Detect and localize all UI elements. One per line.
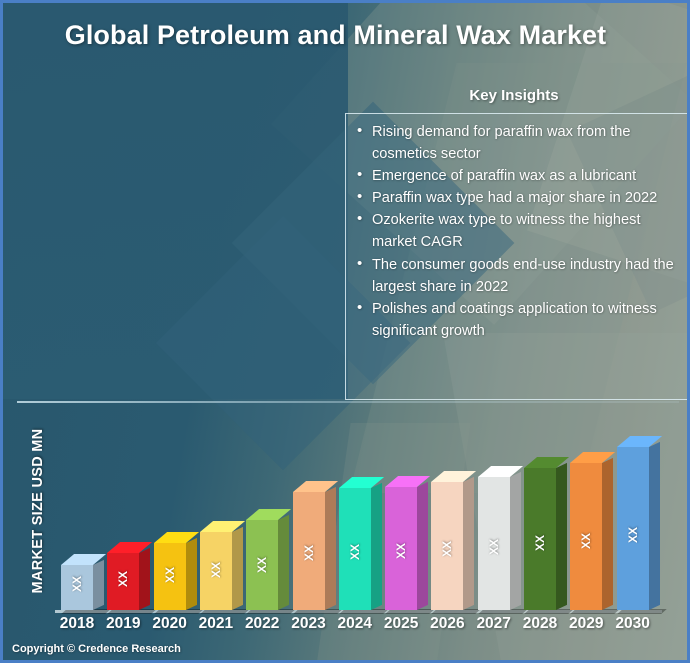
chart-bar-side-face — [463, 477, 474, 610]
key-insights-list: Rising demand for paraffin wax from the … — [354, 121, 681, 342]
chart-x-tick-label: 2019 — [100, 615, 146, 633]
page-title: Global Petroleum and Mineral Wax Market — [63, 19, 608, 52]
chart-bar: XX — [107, 553, 139, 610]
chart-bar-front-face — [293, 492, 325, 610]
key-insight-item: The consumer goods end-use industry had … — [354, 254, 681, 298]
chart-bar: XX — [385, 487, 417, 610]
key-insight-item: Polishes and coatings application to wit… — [354, 298, 681, 342]
key-insight-item: Rising demand for paraffin wax from the … — [354, 121, 681, 165]
chart-x-tick-label: 2030 — [610, 615, 656, 633]
chart-x-tick-label: 2028 — [517, 615, 563, 633]
chart-bar-side-face — [93, 560, 104, 610]
key-insights-box: Rising demand for paraffin wax from the … — [345, 113, 690, 400]
copyright-notice: Copyright © Credence Research — [12, 643, 181, 655]
chart-bar: XX — [478, 477, 510, 610]
chart-bar-front-face — [339, 488, 371, 610]
chart-bar: XX — [154, 543, 186, 610]
chart-x-tick-label: 2020 — [147, 615, 193, 633]
chart-x-tick-label: 2024 — [332, 615, 378, 633]
chart-bar-side-face — [556, 463, 567, 610]
chart-bar-side-face — [417, 482, 428, 610]
chart-bar: XX — [200, 532, 232, 610]
chart-bar-side-face — [371, 483, 382, 610]
chart-x-tick-label: 2018 — [54, 615, 100, 633]
chart-x-axis-labels: 2018201920202021202220232024202520262027… — [55, 615, 680, 639]
chart-x-tick-label: 2022 — [239, 615, 285, 633]
key-insight-item: Emergence of paraffin wax as a lubricant — [354, 165, 681, 187]
chart-bar-front-face — [478, 477, 510, 610]
chart-bar-side-face — [325, 487, 336, 610]
key-insights-heading: Key Insights — [348, 87, 680, 104]
market-size-bar-chart: MARKET SIZE USD MN XXXXXXXXXXXXXXXXXXXXX… — [3, 403, 690, 663]
chart-bar: XX — [431, 482, 463, 610]
chart-bar-front-face — [524, 468, 556, 610]
chart-x-tick-label: 2027 — [471, 615, 517, 633]
chart-bar-front-face — [61, 565, 93, 610]
chart-bar-side-face — [232, 527, 243, 610]
chart-bar-side-face — [278, 515, 289, 610]
chart-bar: XX — [617, 447, 649, 610]
chart-plot-area: XXXXXXXXXXXXXXXXXXXXXXXXXX — [55, 403, 680, 613]
chart-bar-front-face — [385, 487, 417, 610]
chart-bar-side-face — [602, 458, 613, 610]
chart-bar-front-face — [107, 553, 139, 610]
chart-bar-front-face — [617, 447, 649, 610]
chart-bar-side-face — [510, 472, 521, 610]
chart-bar-side-face — [139, 548, 150, 610]
chart-bar-front-face — [200, 532, 232, 610]
chart-bar-front-face — [246, 520, 278, 610]
chart-bar-front-face — [431, 482, 463, 610]
key-insight-item: Ozokerite wax type to witness the highes… — [354, 209, 681, 253]
chart-bar-front-face — [570, 463, 602, 610]
chart-bar: XX — [246, 520, 278, 610]
chart-bar-side-face — [186, 538, 197, 610]
chart-x-tick-label: 2021 — [193, 615, 239, 633]
chart-x-tick-label: 2023 — [286, 615, 332, 633]
chart-bar-side-face — [649, 442, 660, 610]
chart-bar-front-face — [154, 543, 186, 610]
chart-bar: XX — [524, 468, 556, 610]
infographic-canvas: Global Petroleum and Mineral Wax Market … — [0, 0, 690, 663]
chart-bar: XX — [293, 492, 325, 610]
chart-x-tick-label: 2025 — [378, 615, 424, 633]
chart-bar: XX — [570, 463, 602, 610]
chart-bar: XX — [61, 565, 93, 610]
chart-x-tick-label: 2026 — [424, 615, 470, 633]
key-insight-item: Paraffin wax type had a major share in 2… — [354, 187, 681, 209]
chart-x-tick-label: 2029 — [563, 615, 609, 633]
chart-bar: XX — [339, 488, 371, 610]
chart-y-axis-label: MARKET SIZE USD MN — [30, 416, 46, 606]
